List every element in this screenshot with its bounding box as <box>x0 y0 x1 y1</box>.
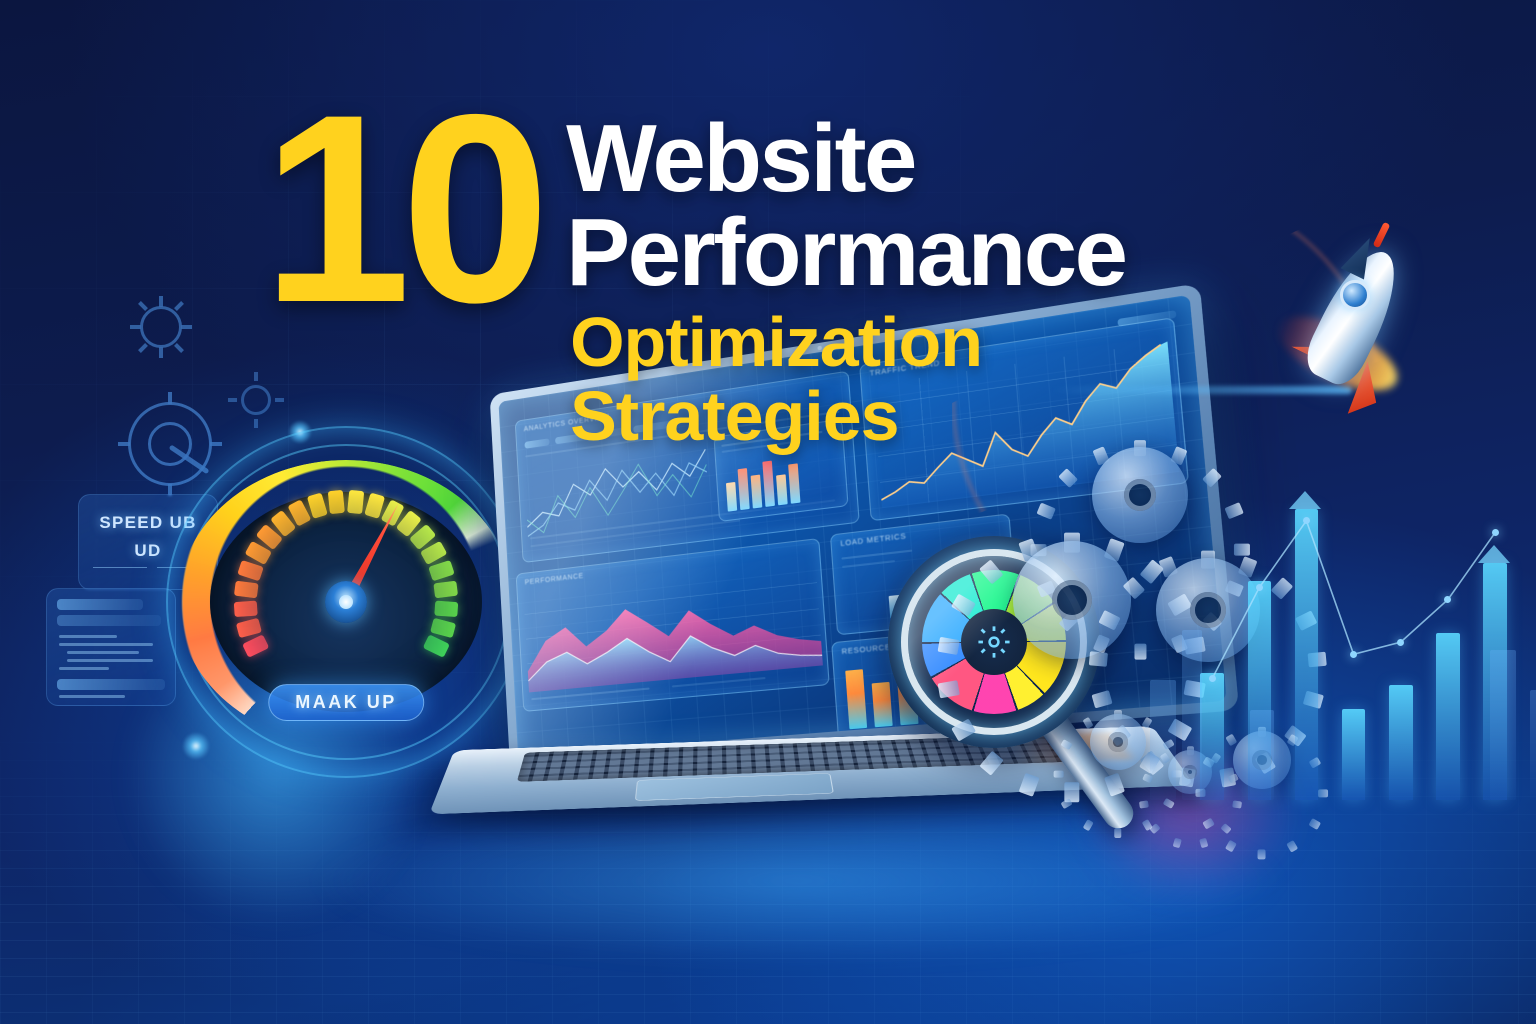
mini-bars <box>725 455 801 512</box>
gauge-segment <box>242 634 269 658</box>
trend-point <box>1492 529 1499 536</box>
gear-icon <box>1013 541 1131 659</box>
rocket-launch <box>1282 228 1442 428</box>
speed-gauge: MAAK UP <box>176 452 516 752</box>
gear-tooth <box>1054 770 1064 777</box>
gauge-segment <box>434 601 458 618</box>
gear-hud-icon <box>130 296 192 358</box>
ghost-bar <box>1530 690 1536 800</box>
trend-line <box>1190 470 1520 800</box>
gear-icon <box>977 625 1011 659</box>
trend-point <box>1350 651 1357 658</box>
gauge-segment <box>237 560 264 581</box>
gauge-face <box>210 492 482 712</box>
title-number: 10 <box>262 96 540 321</box>
gauge-segment <box>433 581 458 599</box>
gear-tooth <box>1232 800 1242 808</box>
gauge-segment <box>430 618 456 638</box>
gear-tooth <box>1138 800 1148 808</box>
pie-center <box>961 609 1027 675</box>
title-subtitle: Optimization Strategies <box>566 306 1272 453</box>
ghost-bar <box>1250 710 1274 800</box>
gauge-segment <box>234 601 258 618</box>
gear-icon <box>1090 714 1146 770</box>
gauge-segment <box>347 490 364 514</box>
gauge-segment <box>307 493 328 519</box>
trend-point <box>1397 639 1404 646</box>
gear-tooth <box>1114 828 1121 838</box>
gauge-segment <box>328 490 345 514</box>
ghost-bar <box>1182 630 1202 800</box>
hero-banner-canvas: SPEED UB UD MAAK UP <box>0 0 1536 1024</box>
trend-point <box>1256 584 1263 591</box>
bar-arrow-cap <box>1289 491 1321 509</box>
trend-point <box>1209 675 1216 682</box>
title-line-1: Website <box>566 112 1272 206</box>
ghost-bar <box>1150 680 1176 800</box>
gauge-hub <box>325 581 367 623</box>
ghost-bar <box>1490 650 1516 800</box>
maak-up-badge[interactable]: MAAK UP <box>268 684 424 721</box>
gear-tooth <box>1258 850 1266 860</box>
gear-tooth <box>1134 643 1146 659</box>
gear-tooth <box>1089 652 1108 667</box>
bar-arrow-cap <box>1478 545 1510 563</box>
code-hud-panel <box>46 588 176 706</box>
title-line-2: Performance <box>566 206 1272 300</box>
gear-hub <box>1052 580 1092 620</box>
gear-hub <box>1108 732 1127 751</box>
pane-title: PERFORMANCE <box>525 573 584 587</box>
gauge-segment <box>423 634 450 658</box>
growth-bar-chart <box>1190 470 1520 800</box>
laptop-trackpad[interactable] <box>635 773 834 801</box>
gauge-segment <box>428 560 455 581</box>
gauge-segment <box>234 581 259 599</box>
hero-title: 10 Website Performance Optimization Stra… <box>262 96 1272 453</box>
gear-tooth <box>938 636 960 655</box>
rocket-window <box>1340 280 1370 310</box>
